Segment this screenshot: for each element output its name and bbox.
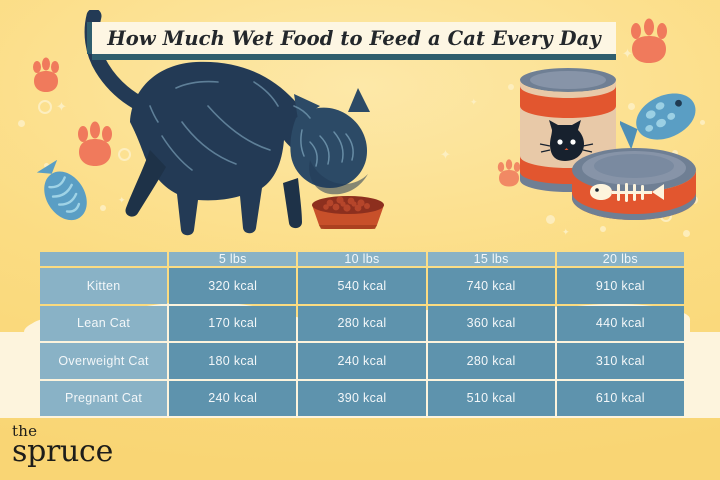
speckle: [18, 120, 25, 127]
table-row: Pregnant Cat 240 kcal 390 kcal 510 kcal …: [40, 381, 684, 417]
cat-food-cans-illustration: [506, 62, 706, 242]
table-row: Lean Cat 170 kcal 280 kcal 360 kcal 440 …: [40, 306, 684, 342]
open-cat-food-can-with-fish-bone-label: [572, 148, 696, 220]
cell-pregnant-cat-10lbs: 390 kcal: [298, 381, 425, 417]
row-label-lean-cat: Lean Cat: [40, 306, 167, 342]
column-header-20lbs: 20 lbs: [557, 252, 684, 266]
column-header-15lbs: 15 lbs: [428, 252, 555, 266]
cell-overweight-cat-20lbs: 310 kcal: [557, 343, 684, 379]
cell-kitten-20lbs: 910 kcal: [557, 268, 684, 304]
row-label-kitten: Kitten: [40, 268, 167, 304]
brand-logo-line2: spruce: [12, 438, 113, 466]
speckle-ring: [38, 100, 52, 114]
cell-kitten-10lbs: 540 kcal: [298, 268, 425, 304]
cell-lean-cat-15lbs: 360 kcal: [428, 306, 555, 342]
cell-overweight-cat-5lbs: 180 kcal: [169, 343, 296, 379]
cell-lean-cat-20lbs: 440 kcal: [557, 306, 684, 342]
table-row: Overweight Cat 180 kcal 240 kcal 280 kca…: [40, 343, 684, 379]
cell-lean-cat-5lbs: 170 kcal: [169, 306, 296, 342]
table-corner-cell: [40, 252, 167, 266]
cell-overweight-cat-10lbs: 240 kcal: [298, 343, 425, 379]
row-label-overweight-cat: Overweight Cat: [40, 343, 167, 379]
column-header-5lbs: 5 lbs: [169, 252, 296, 266]
table-row: Kitten 320 kcal 540 kcal 740 kcal 910 kc…: [40, 268, 684, 304]
table-header-row: 5 lbs 10 lbs 15 lbs 20 lbs: [40, 252, 684, 266]
cell-kitten-5lbs: 320 kcal: [169, 268, 296, 304]
cell-pregnant-cat-5lbs: 240 kcal: [169, 381, 296, 417]
cell-pregnant-cat-15lbs: 510 kcal: [428, 381, 555, 417]
infographic-canvas: ✦ ✦ ✦ ✦ ✦ ✦ ✦: [0, 0, 720, 480]
cell-overweight-cat-15lbs: 280 kcal: [428, 343, 555, 379]
column-header-10lbs: 10 lbs: [298, 252, 425, 266]
sparkle: ✦: [440, 148, 451, 161]
cell-kitten-15lbs: 740 kcal: [428, 268, 555, 304]
feeding-chart-table: 5 lbs 10 lbs 15 lbs 20 lbs Kitten 320 kc…: [38, 250, 686, 418]
cell-lean-cat-10lbs: 280 kcal: [298, 306, 425, 342]
title-banner: How Much Wet Food to Feed a Cat Every Da…: [92, 22, 616, 54]
page-title: How Much Wet Food to Feed a Cat Every Da…: [92, 22, 616, 54]
food-bowl-illustration: [306, 193, 390, 229]
brand-logo: the spruce: [12, 425, 113, 466]
sparkle: ✦: [470, 98, 478, 107]
row-label-pregnant-cat: Pregnant Cat: [40, 381, 167, 417]
cell-pregnant-cat-20lbs: 610 kcal: [557, 381, 684, 417]
